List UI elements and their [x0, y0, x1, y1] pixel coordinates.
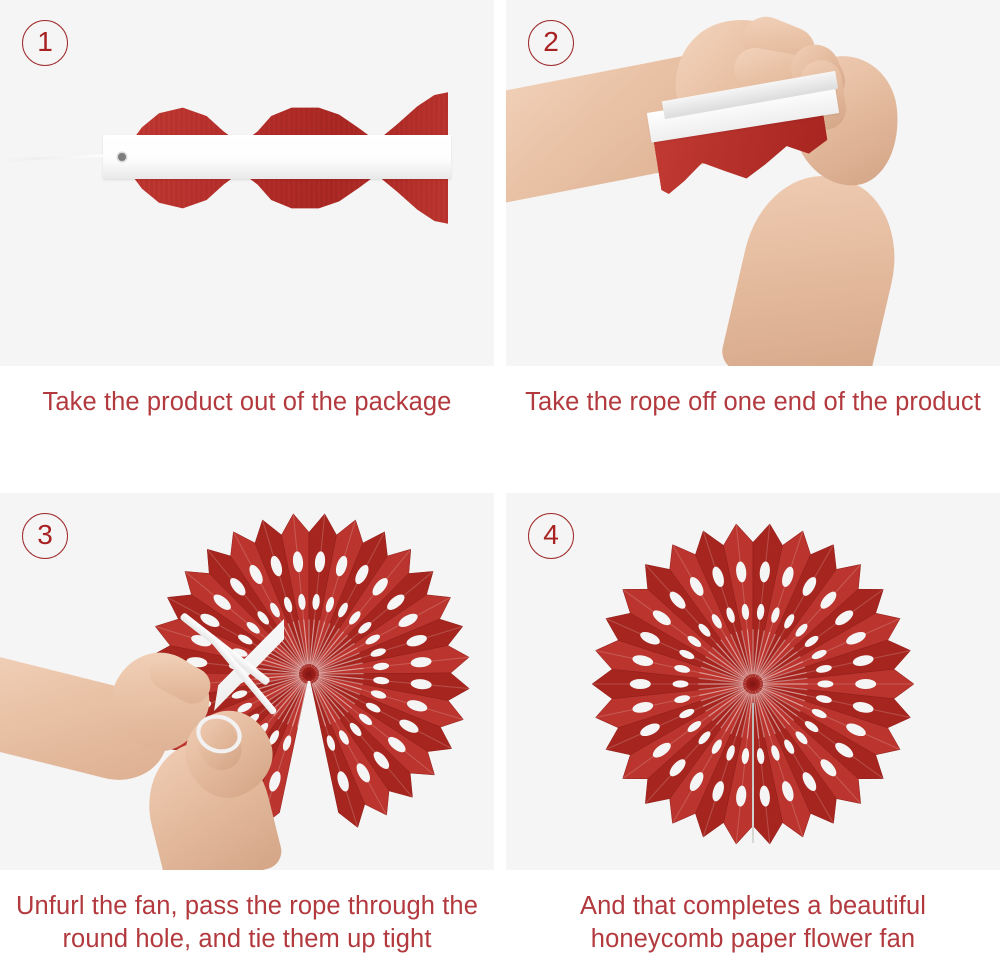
- step-3-illustration: 3: [0, 493, 494, 870]
- step-4-caption-line-1: And that completes a beautiful: [506, 890, 1000, 923]
- step-3-caption-line-2: round hole, and tie them up tight: [0, 923, 494, 956]
- step-3-caption-line-1: Unfurl the fan, pass the rope through th…: [0, 890, 494, 923]
- step-3-caption: Unfurl the fan, pass the rope through th…: [0, 870, 494, 956]
- rope-strand: [5, 154, 117, 162]
- step-4-caption: And that completes a beautiful honeycomb…: [506, 870, 1000, 956]
- step-3-badge: 3: [22, 513, 68, 559]
- step-4-caption-line-2: honeycomb paper flower fan: [506, 923, 1000, 956]
- step-3-number: 3: [37, 521, 53, 549]
- step-2-caption-line-1: Take the rope off one end of the product: [525, 388, 981, 416]
- step-2-number: 2: [543, 28, 559, 56]
- step-2-badge: 2: [528, 20, 574, 66]
- step-panel-4: 4 And that completes a beautiful honeyco…: [506, 493, 1000, 956]
- step-4-number: 4: [543, 521, 559, 549]
- step-2-illustration: 2: [506, 0, 1000, 366]
- step-1-caption-line-1: Take the product out of the package: [43, 388, 452, 416]
- step-4-illustration: 4: [506, 493, 1000, 870]
- fan-center-hub: [302, 667, 316, 681]
- step-1-illustration: 1: [0, 0, 494, 366]
- step-panel-2: 2 Take the rope off one end of the produ…: [506, 0, 1000, 419]
- step-4-badge: 4: [528, 513, 574, 559]
- step-1-caption: Take the product out of the package: [0, 366, 494, 419]
- right-forearm: [718, 162, 911, 366]
- step-1-number: 1: [37, 28, 53, 56]
- step-panel-1: 1 Take the product out of the package: [0, 0, 494, 419]
- step-panel-3: 3 Unfurl the fan, pass the rope through …: [0, 493, 494, 956]
- step-1-badge: 1: [22, 20, 68, 66]
- grommet-hole-icon: [118, 153, 126, 161]
- hanging-thread: [752, 703, 754, 843]
- folded-fan-graphic: [108, 88, 448, 228]
- white-card-strip: [103, 135, 451, 179]
- instruction-sheet: 1 Take the product out of the package 2: [0, 0, 1000, 956]
- step-2-caption: Take the rope off one end of the product: [506, 366, 1000, 419]
- fan-center-hub: [746, 677, 760, 691]
